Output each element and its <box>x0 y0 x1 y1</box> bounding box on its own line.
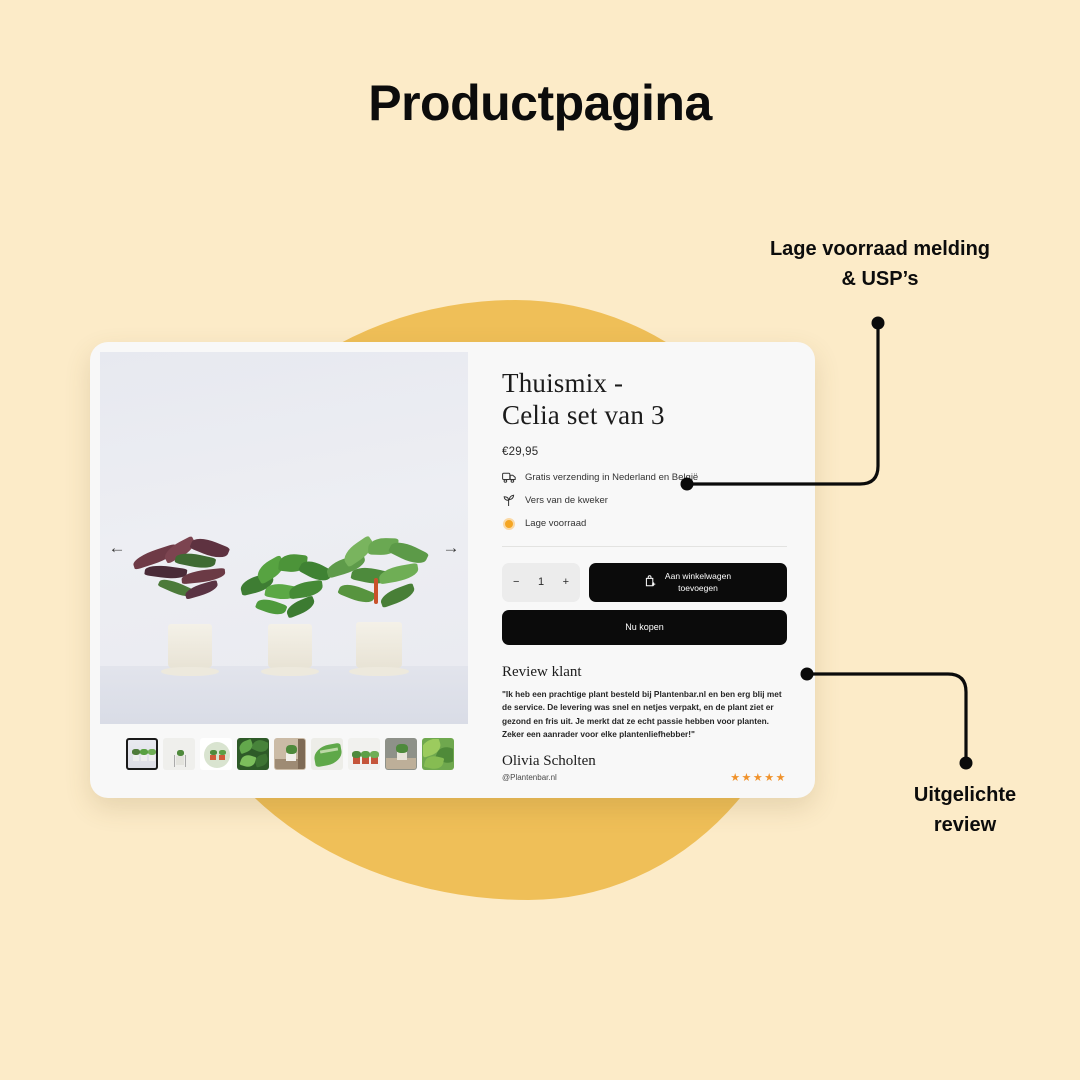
page-title: Productpagina <box>0 74 1080 132</box>
gallery-thumbnail[interactable] <box>348 738 380 770</box>
gallery-thumbnail[interactable] <box>163 738 195 770</box>
product-gallery: ← → <box>90 342 480 798</box>
gallery-thumbnail[interactable] <box>200 738 232 770</box>
review-body: "Ik heb een prachtige plant besteld bij … <box>502 688 787 742</box>
review-author: Olivia Scholten <box>502 753 787 770</box>
gallery-prev-arrow[interactable]: ← <box>108 538 126 558</box>
stock-dot-icon <box>502 517 516 530</box>
bag-plus-icon <box>645 575 656 590</box>
annotation-review: Uitgelichte review <box>860 780 1070 840</box>
sprout-icon <box>502 494 516 507</box>
review-handle: @Plantenbar.nl <box>502 773 557 782</box>
gallery-thumbnail[interactable] <box>126 738 158 770</box>
usp-label-low-stock: Lage voorraad <box>525 518 586 529</box>
buy-now-button[interactable]: Nu kopen <box>502 610 787 645</box>
review-star-rating: ★★★★★ <box>730 771 787 784</box>
review-heading: Review klant <box>502 664 787 681</box>
add-to-cart-label: Aan winkelwagen toevoegen <box>665 570 731 595</box>
purchase-row: − 1 + Aan winkelwagen toevoegen <box>502 563 787 602</box>
review-footer: @Plantenbar.nl ★★★★★ <box>502 771 787 784</box>
gallery-thumbnail[interactable] <box>422 738 454 770</box>
quantity-increase-button[interactable]: + <box>563 576 569 588</box>
usp-label-grower: Vers van de kweker <box>525 495 608 506</box>
product-hero-image[interactable]: ← → <box>100 352 468 724</box>
annotation-stock-usp: Lage voorraad melding & USP’s <box>700 234 1060 294</box>
gallery-thumbnail[interactable] <box>237 738 269 770</box>
gallery-thumbnail[interactable] <box>274 738 306 770</box>
quantity-value: 1 <box>538 576 544 588</box>
plant-image-2 <box>252 554 328 668</box>
product-description: Vrolijk je woonkamer, slaapkamer of thui… <box>502 797 787 798</box>
plant-image-1 <box>152 540 228 668</box>
gallery-thumbnail-strip <box>100 738 480 770</box>
divider <box>502 546 787 547</box>
add-to-cart-label-line1: Aan winkelwagen <box>665 571 731 581</box>
annotation-stock-usp-line1: Lage voorraad melding <box>700 234 1060 264</box>
connector-line-stock-usp <box>660 300 920 520</box>
annotation-stock-usp-line2: & USP’s <box>700 264 1060 294</box>
plant-image-3 <box>340 542 420 668</box>
add-to-cart-button[interactable]: Aan winkelwagen toevoegen <box>589 563 787 602</box>
gallery-thumbnail[interactable] <box>385 738 417 770</box>
connector-line-review <box>780 650 1010 790</box>
annotation-review-line1: Uitgelichte <box>860 780 1070 810</box>
annotation-review-line2: review <box>860 810 1070 840</box>
add-to-cart-label-line2: toevoegen <box>678 583 718 593</box>
truck-icon <box>502 471 516 484</box>
gallery-thumbnail[interactable] <box>311 738 343 770</box>
gallery-next-arrow[interactable]: → <box>442 538 460 558</box>
quantity-stepper[interactable]: − 1 + <box>502 563 580 602</box>
quantity-decrease-button[interactable]: − <box>513 576 519 588</box>
screenshot-stage: Productpagina Lage voorraad melding & US… <box>0 0 1080 1080</box>
